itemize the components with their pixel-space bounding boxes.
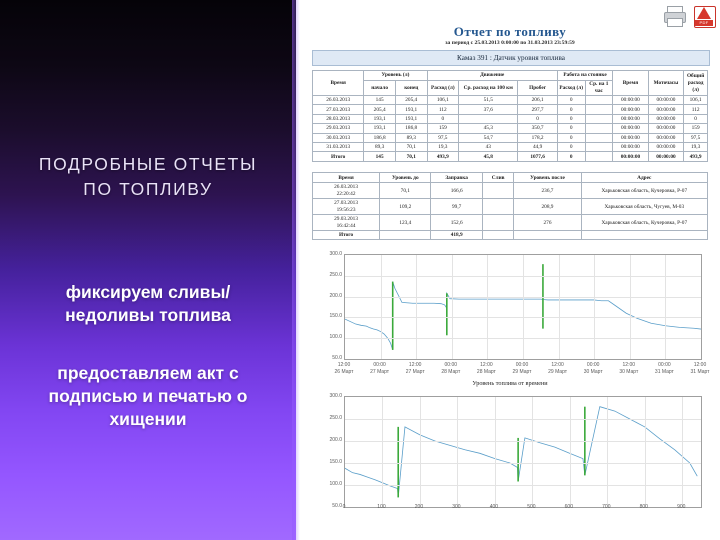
- table-cell: 0: [557, 96, 585, 105]
- table-cell: 1077,6: [518, 152, 558, 161]
- table-cell: 89,3: [395, 133, 427, 142]
- table-cell: 0: [427, 114, 459, 123]
- table-cell: 27.03.2013: [313, 105, 364, 114]
- gridline: [645, 397, 646, 507]
- th-total-consumption: Общий расход (л): [684, 71, 708, 96]
- chart1-title: Уровень топлива от времени: [308, 380, 712, 387]
- table-cell: 45,3: [459, 124, 518, 133]
- table-cell: 0: [557, 124, 585, 133]
- table-cell: 145: [364, 96, 396, 105]
- chart-y-tick-label: 300.0: [310, 251, 342, 257]
- fuel-level-time-chart: 300.0250.0200.0150.0100.050.0 12:0026 Ма…: [308, 250, 712, 390]
- table-cell: 00:00:00: [648, 152, 684, 161]
- gridline: [345, 419, 701, 420]
- table-cell: 0: [684, 114, 708, 123]
- promo-sub1-line1: фиксируем сливы/: [14, 281, 282, 304]
- table-cell: 00:00:00: [648, 96, 684, 105]
- table-cell: 106,1: [684, 96, 708, 105]
- chart-x-tick-label: 200: [399, 504, 439, 511]
- table-cell: 29.03.2013: [313, 124, 364, 133]
- main-table-group-header-row: Время Уровень (л) Движение Работа на сто…: [313, 71, 708, 81]
- table-cell: 43: [459, 142, 518, 151]
- table-cell: 112: [684, 105, 708, 114]
- th-time: Время: [313, 71, 364, 96]
- th-address: Адрес: [581, 173, 707, 183]
- table-cell: 109,2: [380, 199, 431, 215]
- table-cell: [581, 231, 707, 240]
- table-cell: 00:00:00: [613, 105, 649, 114]
- chart2-y-axis: 300.0250.0200.0150.0100.050.0: [308, 392, 342, 504]
- table-row: 29.03.201316:42:44123,4152,6276Харьковск…: [313, 215, 708, 231]
- table-cell: [482, 215, 514, 231]
- events-table-body: 26.03.201322:20:4270,1166,6236,7Харьковс…: [313, 183, 708, 240]
- th-refuel: Заправка: [431, 173, 482, 183]
- th-level-start: начало: [364, 81, 396, 96]
- chart-y-tick-label: 250.0: [310, 415, 342, 421]
- table-row: 26.03.2013145205,4106,151,5206,1000:00:0…: [313, 96, 708, 105]
- table-cell: 45,8: [459, 152, 518, 161]
- table-cell: [585, 124, 613, 133]
- table-cell: 0: [557, 142, 585, 151]
- chart-y-tick-label: 100.0: [310, 334, 342, 340]
- table-cell: 54,7: [459, 133, 518, 142]
- table-cell: Харьковская область, Чугуев, М-03: [581, 199, 707, 215]
- table-row: 31.03.201389,370,119,34344,9000:00:0000:…: [313, 142, 708, 151]
- chart-x-tick-label: 00:0029 Март: [502, 362, 542, 376]
- table-cell: 205,4: [364, 105, 396, 114]
- th-drain: Слив: [482, 173, 514, 183]
- chart-x-tick-label: 12:0029 Март: [538, 362, 578, 376]
- promo-sub2-line2: подписью и печатью о: [14, 385, 282, 408]
- gridline: [345, 441, 701, 442]
- table-cell: 44,9: [518, 142, 558, 151]
- table-cell: [585, 133, 613, 142]
- chart1-y-axis: 300.0250.0200.0150.0100.050.0: [308, 250, 342, 362]
- chart-y-tick-label: 100.0: [310, 481, 342, 487]
- table-cell: 89,3: [364, 142, 396, 151]
- gridline: [495, 397, 496, 507]
- table-cell: 236,7: [514, 183, 581, 199]
- table-cell: Итого: [313, 231, 380, 240]
- table-cell: 106,1: [427, 96, 459, 105]
- gridline: [559, 255, 560, 359]
- events-table-header-row: Время Уровень до Заправка Слив Уровень п…: [313, 173, 708, 183]
- table-cell: 19,3: [684, 142, 708, 151]
- chart-x-tick-label: 12:0026 Март: [324, 362, 364, 376]
- chart-x-tick-label: 00:0027 Март: [360, 362, 400, 376]
- th-engine-hours: Моточасы: [648, 71, 684, 96]
- table-row: 27.03.201319:56:23109,299,7208,9Харьковс…: [313, 199, 708, 215]
- chart1-plot-area: [344, 254, 702, 360]
- promo-subtitle-1: фиксируем сливы/ недоливы топлива: [14, 281, 282, 327]
- report-title: Отчет по топливу: [300, 24, 720, 40]
- chart-y-tick-label: 300.0: [310, 393, 342, 399]
- fuel-summary-table: Время Уровень (л) Движение Работа на сто…: [312, 70, 708, 162]
- table-cell: 26.03.201322:20:42: [313, 183, 380, 199]
- table-cell: 00:00:00: [613, 133, 649, 142]
- table-cell: 159: [427, 124, 459, 133]
- panel-divider: [292, 0, 300, 540]
- gridline: [532, 397, 533, 507]
- gridline: [457, 397, 458, 507]
- events-table-head: Время Уровень до Заправка Слив Уровень п…: [313, 173, 708, 183]
- table-row: 27.03.2013205,4193,111237,6297,7000:00:0…: [313, 105, 708, 114]
- gridline: [420, 397, 421, 507]
- chart2-series-path: [345, 397, 701, 507]
- table-cell: 186,8: [395, 124, 427, 133]
- report-period: за период с 25.03.2013 0:00:00 по 31.03.…: [300, 40, 720, 46]
- table-cell: 00:00:00: [613, 96, 649, 105]
- table-cell: 97,5: [684, 133, 708, 142]
- table-cell: 276: [514, 215, 581, 231]
- table-cell: 00:00:00: [613, 114, 649, 123]
- main-table-head: Время Уровень (л) Движение Работа на сто…: [313, 71, 708, 96]
- table-cell: [585, 114, 613, 123]
- table-cell: [380, 231, 431, 240]
- chart-x-tick-label: 00:0030 Март: [573, 362, 613, 376]
- table-row: Итого14570,1493,945,81077,6000:00:0000:0…: [313, 152, 708, 161]
- chart-x-tick-label: 00:0028 Март: [431, 362, 471, 376]
- gridline: [487, 255, 488, 359]
- promo-title-line1: ПОДРОБНЫЕ ОТЧЕТЫ: [0, 152, 296, 177]
- gridline: [630, 255, 631, 359]
- table-cell: 99,7: [431, 199, 482, 215]
- table-cell: 123,4: [380, 215, 431, 231]
- chart-x-tick-label: 100: [361, 504, 401, 511]
- table-cell: 206,1: [518, 96, 558, 105]
- table-cell: 51,5: [459, 96, 518, 105]
- table-cell: 97,5: [427, 133, 459, 142]
- th-avg-per-100km: Ср. расход на 100 км: [459, 81, 518, 96]
- table-cell: [482, 199, 514, 215]
- table-cell: 0: [557, 133, 585, 142]
- chart-x-tick-label: 500: [511, 504, 551, 511]
- gridline: [665, 255, 666, 359]
- table-cell: 145: [364, 152, 396, 161]
- promo-title-line2: ПО ТОПЛИВУ: [0, 177, 296, 202]
- chart-x-tick-label: 700: [586, 504, 626, 511]
- table-cell: 205,4: [395, 96, 427, 105]
- chart1-x-axis: 12:0026 Март00:0027 Март12:0027 Март00:0…: [344, 360, 702, 380]
- table-cell: 208,9: [514, 199, 581, 215]
- table-cell: 166,6: [431, 183, 482, 199]
- gridline: [345, 463, 701, 464]
- table-cell: 193,1: [395, 114, 427, 123]
- table-cell: Итого: [313, 152, 364, 161]
- table-cell: 493,9: [427, 152, 459, 161]
- table-cell: 152,6: [431, 215, 482, 231]
- table-cell: 159: [684, 124, 708, 133]
- table-cell: [482, 231, 514, 240]
- table-cell: 37,6: [459, 105, 518, 114]
- fuel-report-panel: PDF Отчет по топливу за период с 25.03.2…: [300, 0, 720, 540]
- table-cell: 297,7: [518, 105, 558, 114]
- chart-x-tick-label: 12:0031 Март: [680, 362, 720, 376]
- slide-root: ПОДРОБНЫЕ ОТЧЕТЫ ПО ТОПЛИВУ фиксируем сл…: [0, 0, 720, 540]
- table-cell: 0: [557, 114, 585, 123]
- table-cell: [585, 96, 613, 105]
- main-table-body: 26.03.2013145205,4106,151,5206,1000:00:0…: [313, 96, 708, 162]
- promo-sub2-line1: предоставляем акт с: [14, 362, 282, 385]
- table-row: Итого418,9: [313, 231, 708, 240]
- table-cell: Харьковская область, Кучеровка, Р-07: [581, 215, 707, 231]
- gridline: [381, 255, 382, 359]
- gridline: [594, 255, 595, 359]
- chart-x-tick-label: 300: [436, 504, 476, 511]
- table-cell: [585, 152, 613, 161]
- table-cell: 00:00:00: [613, 142, 649, 151]
- promo-sub2-line3: хищении: [14, 408, 282, 431]
- chart-y-tick-label: 250.0: [310, 272, 342, 278]
- th-group-parking: Работа на стоянке: [557, 71, 612, 81]
- gridline: [523, 255, 524, 359]
- chart-x-tick-label: 400: [474, 504, 514, 511]
- th-level-end: конец: [395, 81, 427, 96]
- chart-x-tick-label: 600: [549, 504, 589, 511]
- table-cell: 178,2: [518, 133, 558, 142]
- fuel-level-distance-chart: 300.0250.0200.0150.0100.050.0 0100200300…: [308, 392, 712, 536]
- chart-y-tick-label: 150.0: [310, 313, 342, 319]
- table-cell: [514, 231, 581, 240]
- table-row: 26.03.201322:20:4270,1166,6236,7Харьковс…: [313, 183, 708, 199]
- chart-x-tick-label: 800: [624, 504, 664, 511]
- table-cell: 29.03.201316:42:44: [313, 215, 380, 231]
- table-cell: 70,1: [395, 152, 427, 161]
- th-group-level: Уровень (л): [364, 71, 427, 81]
- table-row: 28.03.2013193,1193,100000:00:0000:00:000: [313, 114, 708, 123]
- table-cell: 0: [557, 105, 585, 114]
- gridline: [452, 255, 453, 359]
- table-cell: 112: [427, 105, 459, 114]
- chart2-plot-area: [344, 396, 702, 508]
- report-object-header: Камаз 391 : Датчик уровня топлива: [312, 50, 710, 66]
- chart-y-tick-label: 200.0: [310, 293, 342, 299]
- table-cell: 00:00:00: [613, 124, 649, 133]
- table-cell: 70,1: [380, 183, 431, 199]
- table-cell: 31.03.2013: [313, 142, 364, 151]
- table-cell: 193,1: [364, 114, 396, 123]
- table-cell: [482, 183, 514, 199]
- table-cell: 30.03.2013: [313, 133, 364, 142]
- table-cell: 193,1: [395, 105, 427, 114]
- table-cell: [459, 114, 518, 123]
- table-cell: 00:00:00: [648, 105, 684, 114]
- promo-subtitle-2: предоставляем акт с подписью и печатью о…: [14, 362, 282, 431]
- table-cell: Харьковская область, Кучеровка, Р-07: [581, 183, 707, 199]
- th-level-before: Уровень до: [380, 173, 431, 183]
- table-cell: 26.03.2013: [313, 96, 364, 105]
- table-cell: 186,8: [364, 133, 396, 142]
- chart-x-tick-label: 900: [661, 504, 701, 511]
- table-cell: 0: [518, 114, 558, 123]
- table-cell: [585, 142, 613, 151]
- table-cell: 00:00:00: [648, 142, 684, 151]
- promo-panel: ПОДРОБНЫЕ ОТЧЕТЫ ПО ТОПЛИВУ фиксируем сл…: [0, 0, 296, 540]
- th-park-consumption: Расход (л): [557, 81, 585, 96]
- th-group-movement: Движение: [427, 71, 557, 81]
- th-level-after: Уровень после: [514, 173, 581, 183]
- table-cell: 193,1: [364, 124, 396, 133]
- table-cell: 418,9: [431, 231, 482, 240]
- table-cell: 28.03.2013: [313, 114, 364, 123]
- table-cell: [585, 105, 613, 114]
- chart-x-tick-label: 00:0031 Март: [644, 362, 684, 376]
- table-cell: 00:00:00: [648, 114, 684, 123]
- th-event-time: Время: [313, 173, 380, 183]
- gridline: [570, 397, 571, 507]
- table-cell: 350,7: [518, 124, 558, 133]
- gridline: [701, 255, 702, 359]
- table-cell: 0: [557, 152, 585, 161]
- gridline: [416, 255, 417, 359]
- chart-x-tick-label: 12:0027 Март: [395, 362, 435, 376]
- table-cell: 27.03.201319:56:23: [313, 199, 380, 215]
- chart-y-tick-label: 200.0: [310, 437, 342, 443]
- chart-x-tick-label: 0: [324, 504, 364, 511]
- table-cell: 00:00:00: [613, 152, 649, 161]
- table-cell: 19,3: [427, 142, 459, 151]
- gridline: [607, 397, 608, 507]
- chart-x-tick-label: 12:0030 Март: [609, 362, 649, 376]
- table-cell: 00:00:00: [648, 133, 684, 142]
- th-park-time: Время: [613, 71, 649, 96]
- gridline: [382, 397, 383, 507]
- chart-x-tick-label: 12:0028 Март: [466, 362, 506, 376]
- table-row: 30.03.2013186,889,397,554,7178,2000:00:0…: [313, 133, 708, 142]
- th-move-consumption: Расход (л): [427, 81, 459, 96]
- table-cell: 70,1: [395, 142, 427, 151]
- fuel-events-table: Время Уровень до Заправка Слив Уровень п…: [312, 172, 708, 240]
- th-avg-per-hour: Ср. на 1 час: [585, 81, 613, 96]
- chart2-x-axis: 0100200300400500600700800900: [344, 502, 702, 522]
- th-mileage: Пробег: [518, 81, 558, 96]
- table-cell: 00:00:00: [648, 124, 684, 133]
- table-row: 29.03.2013193,1186,815945,3350,7000:00:0…: [313, 124, 708, 133]
- gridline: [345, 485, 701, 486]
- gridline: [682, 397, 683, 507]
- promo-sub1-line2: недоливы топлива: [14, 304, 282, 327]
- table-cell: 493,9: [684, 152, 708, 161]
- promo-title: ПОДРОБНЫЕ ОТЧЕТЫ ПО ТОПЛИВУ: [0, 152, 296, 202]
- chart-y-tick-label: 150.0: [310, 459, 342, 465]
- chart-y-tick-label: 50.0: [310, 355, 342, 361]
